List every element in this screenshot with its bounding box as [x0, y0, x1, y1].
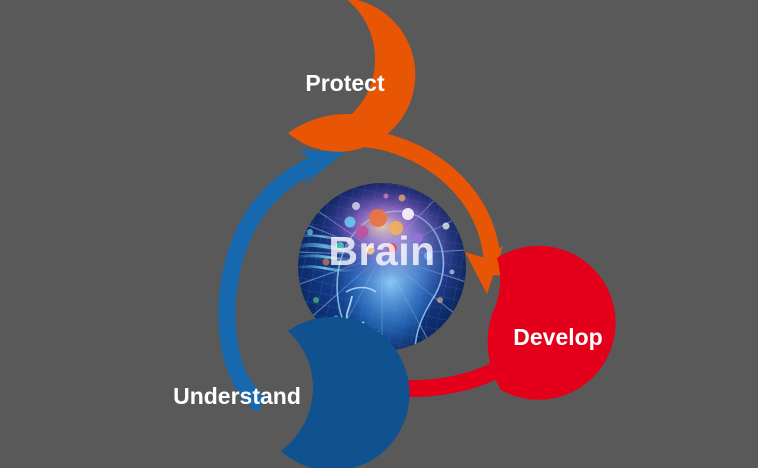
node-understand-label: Understand: [173, 383, 301, 409]
node-develop-label: Develop: [513, 324, 602, 350]
cycle-diagram-canvas: Protect Develop Understand Brain: [0, 0, 758, 468]
node-protect-label: Protect: [305, 70, 385, 96]
center-label: Brain: [328, 228, 435, 274]
brain-cycle-diagram: Protect Develop Understand Brain: [0, 0, 758, 468]
